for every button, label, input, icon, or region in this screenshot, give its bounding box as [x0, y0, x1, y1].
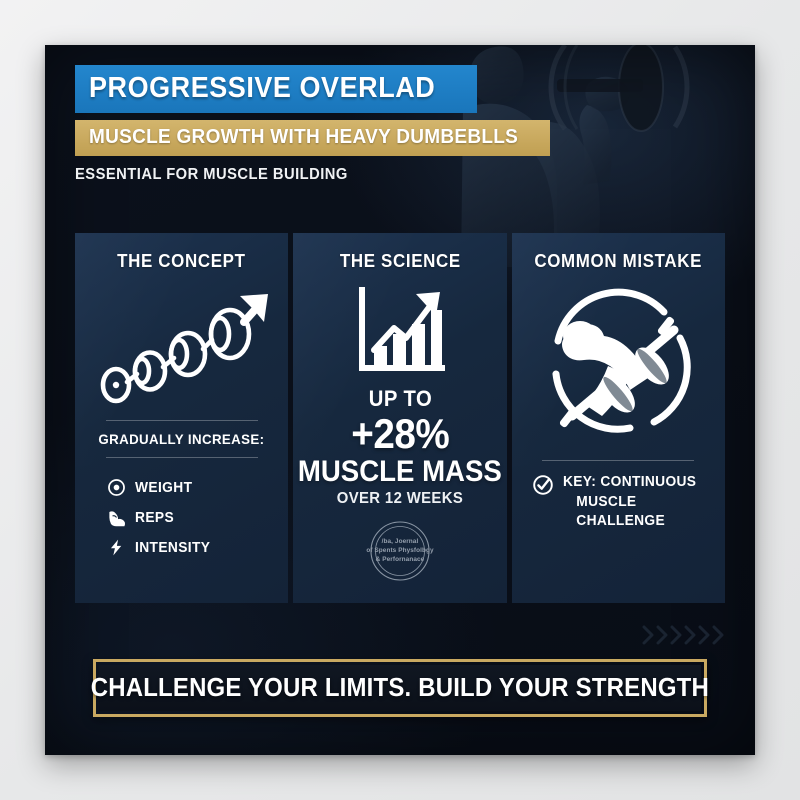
page-root: PROGRESSIVE OVERLAD MUSCLE GROWTH WITH H…	[0, 0, 800, 800]
stat-prefix: UP TO	[368, 386, 431, 412]
stat-label: MUSCLE MASS	[298, 456, 502, 488]
list-item: INTENSITY	[107, 538, 274, 557]
flexed-bicep-icon	[107, 508, 126, 527]
bullet-label: WEIGHT	[135, 480, 192, 496]
title-bar: PROGRESSIVE OVERLAD	[75, 65, 477, 113]
panel-concept: THE CONCEPT	[75, 233, 288, 603]
infographic-card: PROGRESSIVE OVERLAD MUSCLE GROWTH WITH H…	[45, 45, 755, 755]
target-dot-icon	[107, 478, 126, 497]
seal-line-2: of Spents Physfolbgy	[366, 547, 433, 556]
stat-value: +28%	[351, 413, 449, 456]
key-takeaway: KEY: CONTINUOUS MUSCLE CHALLENGE	[526, 473, 711, 532]
panels-row: THE CONCEPT	[75, 233, 725, 603]
lightning-bolt-icon	[107, 538, 126, 557]
page-tagline: ESSENTIAL FOR MUSCLE BUILDING	[75, 166, 607, 184]
panel-mistake: COMMON MISTAKE	[512, 233, 725, 603]
page-title: PROGRESSIVE OVERLAD	[89, 72, 435, 105]
panel-mistake-title: COMMON MISTAKE	[534, 251, 702, 272]
bullet-label: REPS	[135, 510, 174, 526]
subtitle-bar: MUSCLE GROWTH WITH HEAVY DUMBEBLLS	[75, 120, 550, 156]
concept-bullets: WEIGHT REPS INTENSITY	[89, 478, 274, 568]
page-subtitle: MUSCLE GROWTH WITH HEAVY DUMBEBLLS	[89, 126, 514, 149]
bottom-banner: CHALLENGE YOUR LIMITS. BUILD YOUR STRENG…	[93, 659, 707, 717]
stat-period: OVER 12 WEEKS	[337, 490, 463, 508]
check-circle-icon	[532, 474, 554, 496]
key-line-2: MUSCLE CHALLENGE	[563, 493, 704, 532]
ascending-dumbbells-arrow-icon	[94, 288, 270, 410]
divider	[106, 420, 258, 421]
header: PROGRESSIVE OVERLAD MUSCLE GROWTH WITH H…	[75, 65, 635, 184]
chevron-right-decoration-icon	[641, 623, 727, 647]
seal-line-1: /ba, Joernal	[382, 538, 419, 547]
divider	[106, 457, 258, 458]
source-seal: /ba, Joernal of Spents Physfolbgy & Perf…	[359, 520, 441, 582]
divider	[542, 460, 694, 461]
panel-concept-title: THE CONCEPT	[117, 251, 246, 272]
no-bad-form-deadlift-icon	[534, 286, 702, 446]
list-item: WEIGHT	[107, 478, 274, 497]
panel-science: THE SCIENCE UP TO +28% MUSCLE MASS OVE	[293, 233, 506, 603]
gradually-increase-label: GRADUALLY INCREASE:	[99, 431, 265, 447]
seal-line-3: & Perfornanace	[376, 556, 425, 565]
key-line-1: KEY: CONTINUOUS	[563, 473, 704, 493]
bullet-label: INTENSITY	[135, 540, 210, 556]
panel-science-title: THE SCIENCE	[339, 251, 460, 272]
bar-chart-growth-icon	[350, 284, 450, 380]
banner-text: CHALLENGE YOUR LIMITS. BUILD YOUR STRENG…	[91, 674, 709, 703]
list-item: REPS	[107, 508, 274, 527]
